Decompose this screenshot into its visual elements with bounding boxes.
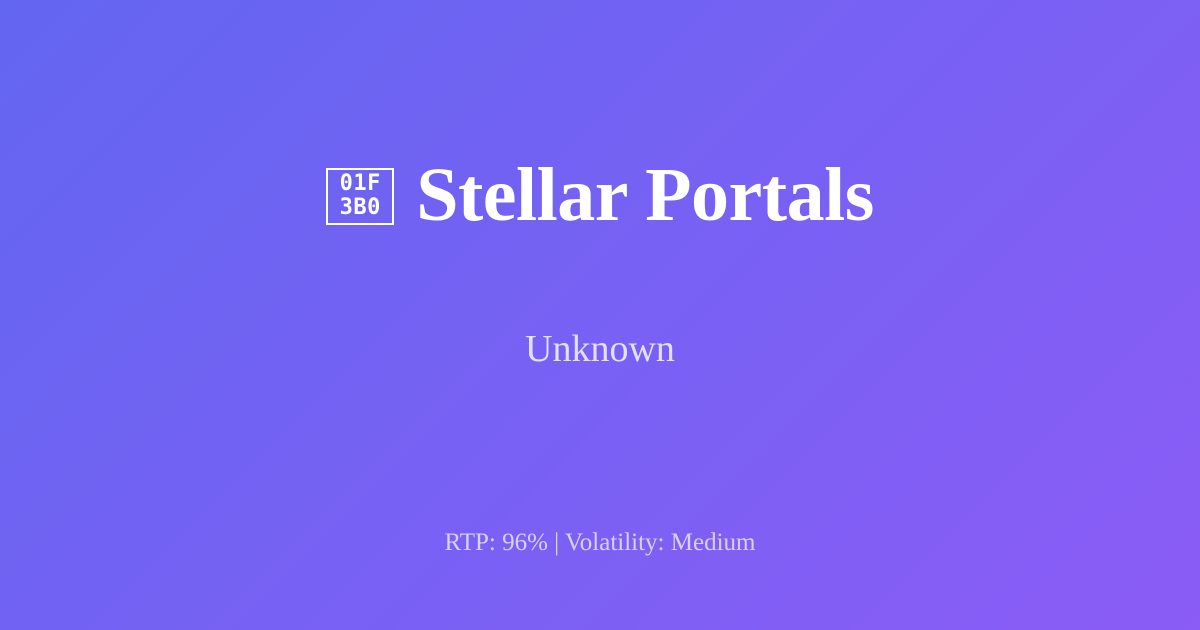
slot-machine-emoji-icon: 01F 3B0 xyxy=(326,168,394,225)
tofu-codepoint-row-1: 01F xyxy=(340,172,381,196)
title-row: 01F 3B0 Stellar Portals xyxy=(60,105,1140,287)
game-provider-subtitle: Unknown xyxy=(525,327,675,373)
game-stats-line: RTP: 96% | Volatility: Medium xyxy=(0,528,1200,558)
tofu-codepoint-row-2: 3B0 xyxy=(340,196,381,220)
hero-section: 01F 3B0 Stellar Portals Unknown xyxy=(0,0,1200,478)
game-title: Stellar Portals xyxy=(416,156,874,236)
og-share-card: 01F 3B0 Stellar Portals Unknown RTP: 96%… xyxy=(0,0,1200,630)
